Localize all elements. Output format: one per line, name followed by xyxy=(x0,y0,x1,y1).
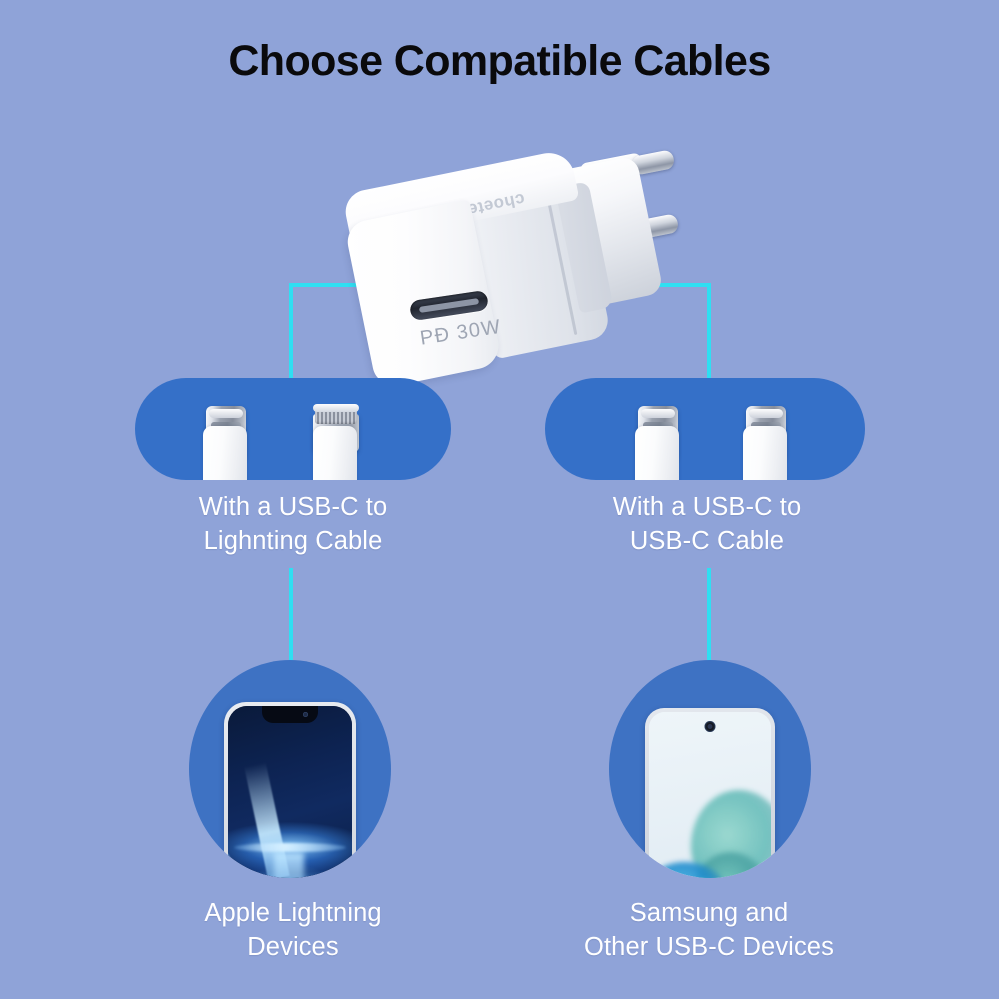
cable-option-usbc-to-usbc-pill[interactable]: CHOE CHOE xyxy=(545,378,865,480)
charger-product-image: choetech PĐ 30W xyxy=(332,132,732,382)
connector-line-left-pill-to-apple-circle xyxy=(289,568,293,664)
usb-c-connector-right: CHOE xyxy=(735,396,795,480)
connector-line-right-pill-to-samsung-circle xyxy=(707,568,711,664)
infographic-canvas: Choose Compatible Cables choetech PĐ 30W xyxy=(0,0,999,999)
caption-line-2: Lighnting Cable xyxy=(113,524,473,558)
samsung-device-image xyxy=(645,708,775,878)
cable-option-caption-lightning: With a USB-C to Lighnting Cable xyxy=(113,490,473,558)
usb-c-connector-left: CHOE xyxy=(195,396,255,480)
caption-line-1: Samsung and xyxy=(515,896,903,930)
punch-hole-camera-icon xyxy=(705,721,716,732)
device-circle-samsung[interactable] xyxy=(609,660,811,878)
samsung-screen xyxy=(649,712,771,878)
cable-housing: CHOE xyxy=(203,426,247,480)
lightning-top-cap xyxy=(313,404,359,412)
cable-option-usbc-to-lightning-pill[interactable]: CHOE xyxy=(135,378,451,480)
charger-body: choetech PĐ 30W xyxy=(311,95,753,420)
device-circle-apple[interactable] xyxy=(189,660,391,878)
lightning-connector xyxy=(305,396,365,480)
usb-c-connector-left: CHOE xyxy=(627,396,687,480)
caption-line-2: USB-C Cable xyxy=(527,524,887,558)
iphone-device-image xyxy=(224,702,356,878)
caption-line-2: Other USB-C Devices xyxy=(515,930,903,964)
iphone-notch xyxy=(262,706,318,723)
wallpaper-floor-glow xyxy=(234,843,346,852)
page-title: Choose Compatible Cables xyxy=(0,36,999,86)
cable-housing: CHOE xyxy=(743,426,787,480)
front-camera-icon xyxy=(303,712,308,717)
caption-line-1: With a USB-C to xyxy=(527,490,887,524)
cable-housing: CHOE xyxy=(635,426,679,480)
cable-housing xyxy=(313,426,357,480)
device-caption-apple: Apple Lightning Devices xyxy=(113,896,473,964)
caption-line-1: Apple Lightning xyxy=(113,896,473,930)
iphone-screen xyxy=(228,706,352,878)
usb-c-port-icon xyxy=(409,290,489,321)
wallpaper-bottom-glow xyxy=(274,852,304,878)
device-caption-samsung: Samsung and Other USB-C Devices xyxy=(515,896,903,964)
caption-line-1: With a USB-C to xyxy=(113,490,473,524)
caption-line-2: Devices xyxy=(113,930,473,964)
cable-option-caption-usbc: With a USB-C to USB-C Cable xyxy=(527,490,887,558)
connector-line-charger-to-left-pill xyxy=(289,283,293,379)
